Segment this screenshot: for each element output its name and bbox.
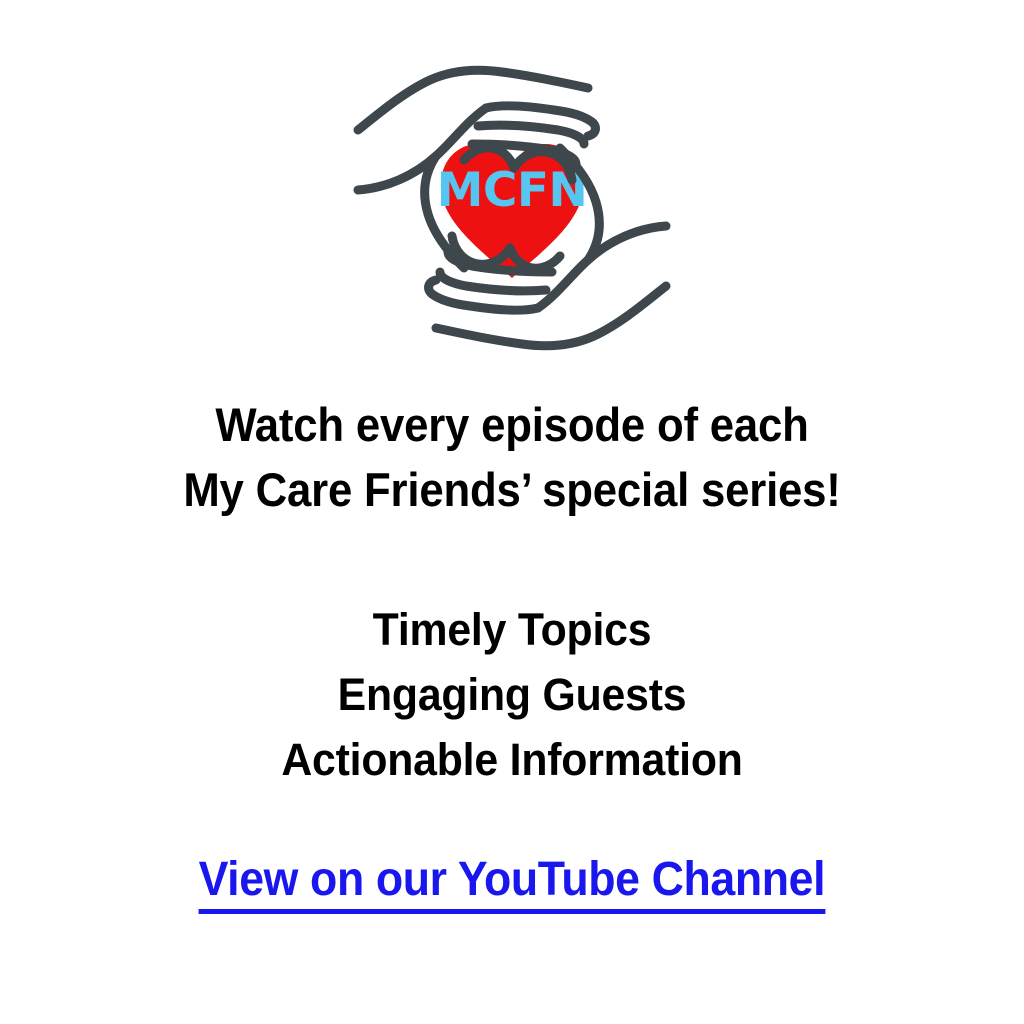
- view-youtube-channel-link[interactable]: View on our YouTube Channel: [199, 852, 826, 914]
- headline: Watch every episode of each My Care Frie…: [0, 392, 1024, 522]
- logo-svg: MCFN: [352, 64, 672, 352]
- benefit-item-engaging-guests: Engaging Guests: [26, 662, 999, 727]
- promo-card: MCFN: [0, 0, 1024, 1024]
- headline-line-2: My Care Friends’ special series!: [36, 457, 988, 522]
- benefit-item-timely-topics: Timely Topics: [26, 597, 999, 662]
- my-care-friends-logo: MCFN: [352, 64, 672, 352]
- headline-line-1: Watch every episode of each: [36, 392, 988, 457]
- cta-container: View on our YouTube Channel: [0, 852, 1024, 914]
- benefit-item-actionable-information: Actionable Information: [26, 727, 999, 792]
- benefits-list: Timely Topics Engaging Guests Actionable…: [0, 597, 1024, 792]
